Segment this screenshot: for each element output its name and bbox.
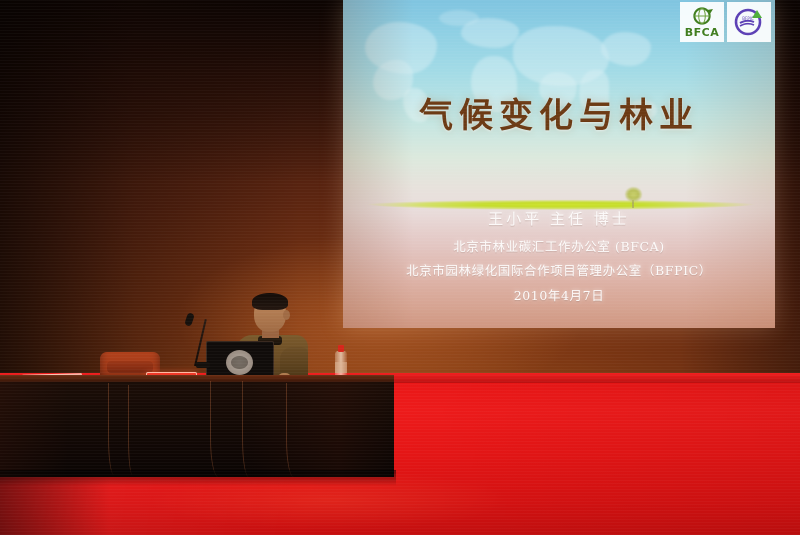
table-ground-shadow xyxy=(0,470,396,486)
chair-backrest xyxy=(107,361,153,373)
projection-screen: BFCA BFPIC 气候变化与林业 王小平 主任 博士 北京市林业碳汇工作办公… xyxy=(343,0,775,328)
speaker-ear xyxy=(283,310,290,320)
bfca-logo: BFCA xyxy=(680,2,724,42)
cable xyxy=(210,381,231,477)
cable xyxy=(108,383,123,475)
slide-text-block: 王小平 主任 博士 北京市林业碳汇工作办公室 (BFCA) 北京市园林绿化国际合… xyxy=(343,208,775,304)
cable xyxy=(286,383,305,477)
globe-icon xyxy=(689,7,715,26)
slide-date: 2010年4月7日 xyxy=(343,285,775,304)
slide-org-line-2: 北京市园林绿化国际合作项目管理办公室（BFPIC） xyxy=(343,260,775,279)
slide-title: 气候变化与林业 xyxy=(343,88,775,137)
cable xyxy=(242,381,259,477)
circle-emblem-icon: BFPIC xyxy=(732,6,766,38)
laptop-logo-sticker xyxy=(226,350,253,375)
svg-text:BFPIC: BFPIC xyxy=(742,16,754,21)
microphone-icon xyxy=(184,312,195,327)
bottle-cap xyxy=(338,345,344,352)
tree-icon xyxy=(625,187,642,202)
bfca-logo-label: BFCA xyxy=(685,27,719,38)
bfpic-logo: BFPIC xyxy=(727,2,771,42)
bottle-label xyxy=(335,362,347,373)
cable xyxy=(128,385,139,475)
microphone-base xyxy=(196,362,210,368)
microphone-stem xyxy=(194,319,207,366)
slide-org-line-1: 北京市林业碳汇工作办公室 (BFCA) xyxy=(343,236,775,255)
photo-scene: BFCA BFPIC 气候变化与林业 王小平 主任 博士 北京市林业碳汇工作办公… xyxy=(0,0,800,535)
slide-logo-group: BFCA BFPIC xyxy=(680,2,771,42)
presentation-table xyxy=(0,381,394,477)
speaker-hair xyxy=(252,293,288,310)
table-skirt xyxy=(0,381,394,477)
slide-presenter-name: 王小平 主任 博士 xyxy=(343,208,775,229)
